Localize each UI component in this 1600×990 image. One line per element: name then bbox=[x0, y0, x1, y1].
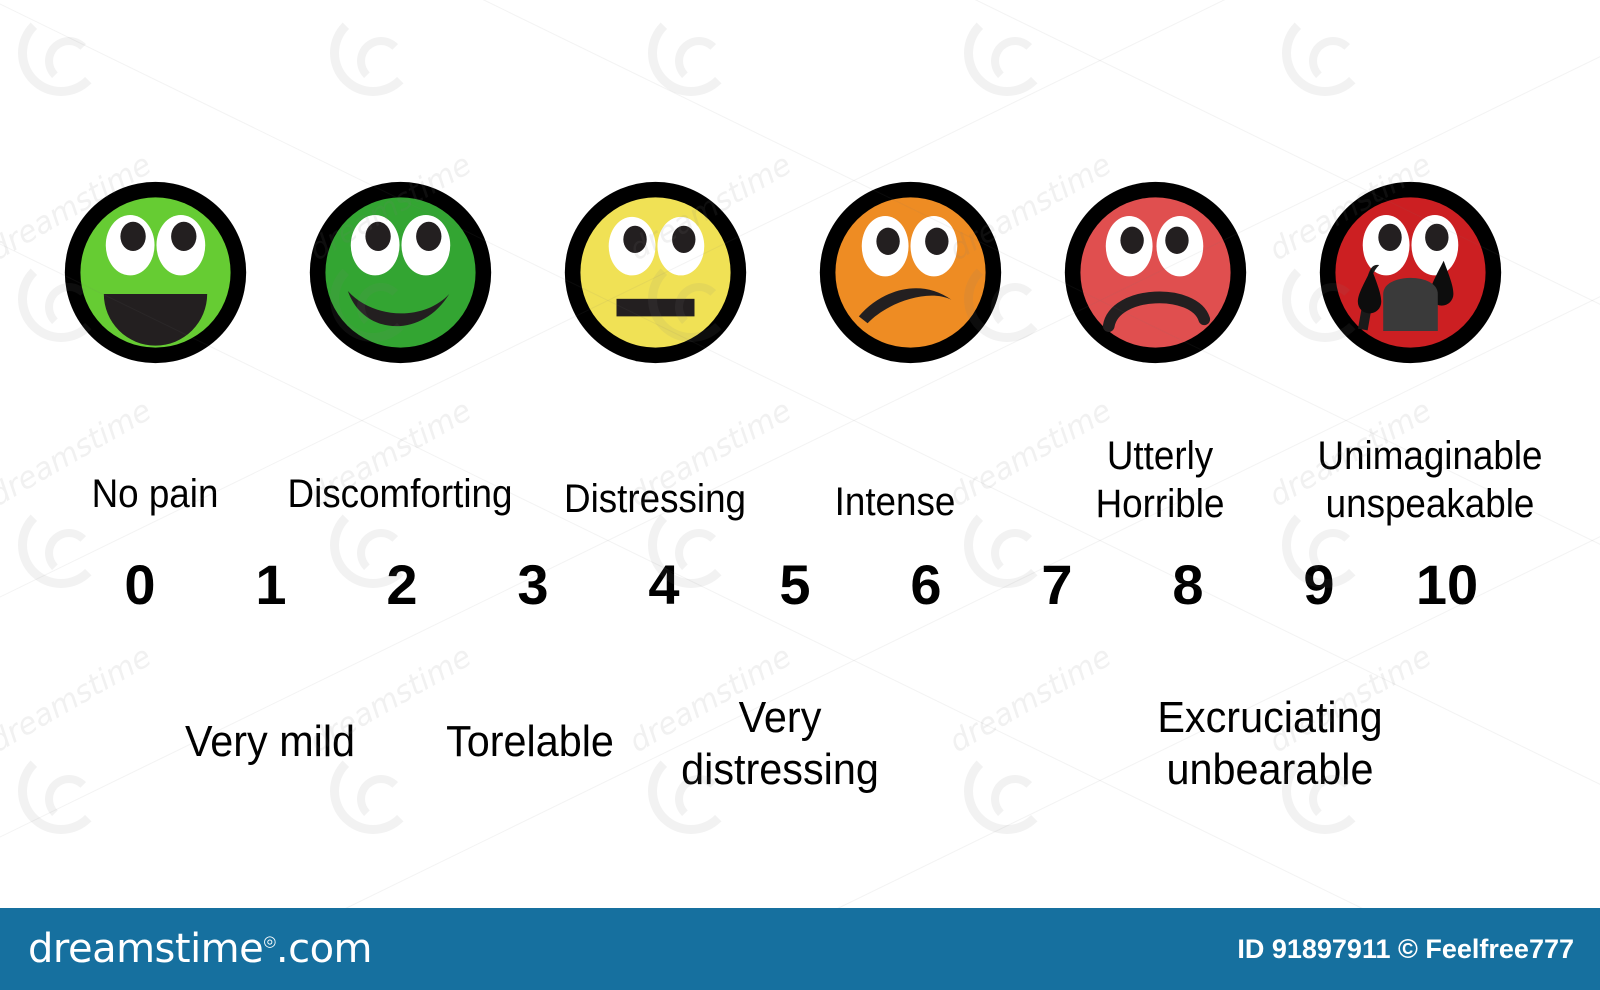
top-label-unimaginable-unspeakable: Unimaginable unspeakable bbox=[1283, 432, 1577, 528]
scale-numbers-row: 0 1 2 3 4 5 6 7 8 9 10 bbox=[0, 556, 1600, 620]
face-0-happy-open-smile-face bbox=[58, 175, 253, 375]
dreamstime-logo-text: dreamstime bbox=[28, 926, 263, 972]
scale-number-10: 10 bbox=[1412, 556, 1482, 614]
top-labels-group: No pain Discomforting Distressing Intens… bbox=[0, 420, 1600, 540]
stock-footer-bar: dreamstime◎.com ID 91897911 © Feelfree77… bbox=[0, 908, 1600, 990]
scale-number-9: 9 bbox=[1284, 556, 1354, 614]
scale-number-2: 2 bbox=[367, 556, 437, 614]
bottom-label-very-distressing: Very distressing bbox=[663, 692, 898, 796]
face-5-crying-face bbox=[1313, 175, 1508, 375]
image-id-credit: ID 91897911 © Feelfree777 bbox=[1237, 934, 1574, 965]
registered-spiral-icon: ◎ bbox=[263, 932, 276, 950]
scale-number-8: 8 bbox=[1153, 556, 1223, 614]
face-1-smiling-face bbox=[303, 175, 498, 375]
pain-scale-bar bbox=[0, 614, 1600, 704]
scale-number-4: 4 bbox=[629, 556, 699, 614]
top-label-utterly-horrible: Utterly Horrible bbox=[1050, 432, 1271, 528]
scale-number-3: 3 bbox=[498, 556, 568, 614]
faces-row bbox=[0, 0, 1600, 400]
top-label-no-pain: No pain bbox=[40, 470, 270, 518]
scale-number-1: 1 bbox=[236, 556, 306, 614]
bottom-label-torelable: Torelable bbox=[408, 716, 652, 768]
scale-number-6: 6 bbox=[891, 556, 961, 614]
dreamstime-logo-suffix: .com bbox=[276, 926, 372, 972]
bottom-label-very-mild: Very mild bbox=[148, 716, 392, 768]
top-label-discomforting: Discomforting bbox=[276, 470, 524, 518]
bottom-labels-group: Very mild Torelable Very distressing Exc… bbox=[0, 694, 1600, 824]
scale-number-7: 7 bbox=[1022, 556, 1092, 614]
top-label-intense: Intense bbox=[803, 478, 987, 526]
scale-number-5: 5 bbox=[760, 556, 830, 614]
top-label-distressing: Distressing bbox=[540, 475, 770, 523]
face-3-uncomfortable-face bbox=[813, 175, 1008, 375]
pain-scale-infographic: No pain Discomforting Distressing Intens… bbox=[0, 0, 1600, 990]
bottom-label-excruciating-unbearable: Excruciating unbearable bbox=[1115, 692, 1425, 796]
face-2-neutral-face bbox=[558, 175, 753, 375]
face-4-sad-frowning-face bbox=[1058, 175, 1253, 375]
scale-number-0: 0 bbox=[105, 556, 175, 614]
dreamstime-logo[interactable]: dreamstime◎.com bbox=[28, 926, 372, 972]
